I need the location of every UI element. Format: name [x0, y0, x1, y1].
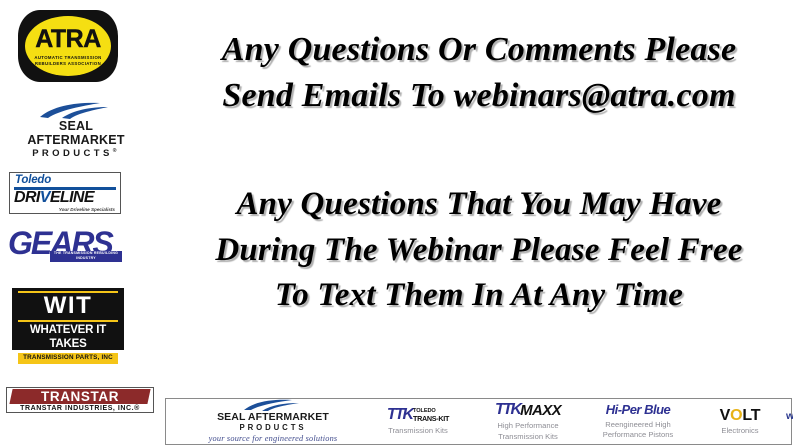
footer-ttk-right: TOLEDO TRANS-KIT	[413, 408, 449, 422]
headline-1-line-2: Send Emails To webinars@atra.com	[165, 73, 793, 119]
footer-volt-word: VOLT	[694, 407, 786, 425]
footer-swoosh-icon	[184, 399, 362, 411]
footer-maxx-caption-1: High Performance	[474, 421, 582, 431]
wit-wordmark: WIT	[12, 294, 124, 319]
toledo-main-v: V	[40, 189, 50, 206]
footer-ttk-mark: TTK	[387, 406, 412, 424]
atra-wordmark: ATRA	[35, 27, 101, 52]
transtar-logo: TRANSTAR TRANSTAR INDUSTRIES, INC.®	[6, 387, 154, 413]
transtar-registered: ®	[134, 405, 140, 412]
headline-block-questions: Any Questions That You May Have During T…	[165, 182, 793, 319]
toledo-main-right: ELINE	[50, 189, 94, 206]
footer-ttk-lockup: TTK TOLEDO TRANS-KIT	[362, 406, 474, 424]
wit-bottom-rule	[18, 320, 118, 322]
footer-website-block: www.sealsap.com (800) 582-2760	[786, 409, 793, 434]
footer-ttk-caption: Transmission Kits	[362, 426, 474, 436]
footer-phone-number: (800) 582-2760	[786, 423, 793, 434]
atra-logo: ATRA AUTOMATIC TRANSMISSION REBUILDERS A…	[18, 10, 118, 82]
wit-phrase: WHATEVER IT TAKES	[12, 323, 124, 352]
gears-logo: GEARS THE TRANSMISSION REBUILDING INDUST…	[8, 228, 128, 266]
footer-website-url[interactable]: www.sealsap.com	[786, 409, 793, 423]
footer-sap-line-2: PRODUCTS	[184, 423, 362, 433]
headline-1-line-1: Any Questions Or Comments Please	[165, 27, 793, 73]
sap-line-1: SEAL AFTERMARKET	[12, 119, 140, 148]
headline-2-line-2: During The Webinar Please Feel Free	[165, 228, 793, 274]
footer-volt-left: V	[720, 407, 730, 424]
headline-block-contact: Any Questions Or Comments Please Send Em…	[165, 27, 793, 119]
sap-line-2-text: PRODUCTS	[32, 148, 113, 159]
sponsor-logo-column: ATRA AUTOMATIC TRANSMISSION REBUILDERS A…	[0, 0, 165, 446]
footer-maxx-caption-2: Transmission Kits	[474, 432, 582, 442]
footer-hiper-word: Hi-Per Blue	[582, 402, 694, 418]
lightning-bolt-icon: O	[730, 407, 742, 424]
footer-hiper-caption-2: Performance Pistons	[582, 430, 694, 440]
footer-logo-ttk-maxx: TTKMAXX High Performance Transmission Ki…	[474, 401, 582, 442]
sap-line-2: PRODUCTS®	[12, 148, 140, 160]
footer-hiper-caption-1: Reengineered High	[582, 420, 694, 430]
footer-sap-tagline: your source for engineered solutions	[184, 433, 362, 445]
toledo-main-word: DRIVELINE	[10, 190, 120, 207]
atra-oval: ATRA AUTOMATIC TRANSMISSION REBUILDERS A…	[25, 16, 111, 76]
footer-maxx-mark: TTK	[495, 401, 520, 419]
atra-subtitle-line-2: REBUILDERS ASSOCIATION	[35, 61, 101, 67]
footer-sponsor-bar: SEAL AFTERMARKET PRODUCTS your source fo…	[165, 398, 792, 445]
wit-logo: WIT WHATEVER IT TAKES TRANSMISSION PARTS…	[12, 288, 124, 350]
swoosh-icon	[12, 102, 140, 119]
transtar-wordmark: TRANSTAR	[41, 389, 119, 404]
footer-volt-right: LT	[742, 407, 760, 424]
gears-tagline: THE TRANSMISSION REBUILDING INDUSTRY	[50, 251, 122, 262]
headline-2-line-1: Any Questions That You May Have	[165, 182, 793, 228]
footer-logo-seal-aftermarket: SEAL AFTERMARKET PRODUCTS your source fo…	[166, 399, 362, 445]
footer-logo-hi-per-blue: Hi-Per Blue Reengineered High Performanc…	[582, 402, 694, 440]
footer-maxx-lockup: TTKMAXX	[474, 401, 582, 419]
transtar-subtitle-text: TRANSTAR INDUSTRIES, INC.	[20, 405, 134, 412]
footer-logo-volt-electronics: VOLT Electronics	[694, 407, 786, 437]
slide-canvas: ATRA AUTOMATIC TRANSMISSION REBUILDERS A…	[0, 0, 793, 446]
footer-volt-caption: Electronics	[694, 426, 786, 436]
footer-maxx-word: MAXX	[520, 402, 561, 419]
footer-logo-toledo-trans-kit: TTK TOLEDO TRANS-KIT Transmission Kits	[362, 406, 474, 436]
sap-trademark: ®	[113, 148, 120, 154]
slide-content-area: Any Questions Or Comments Please Send Em…	[165, 0, 793, 392]
wit-subtitle-bar: TRANSMISSION PARTS, INC	[18, 353, 118, 363]
transtar-band: TRANSTAR	[9, 389, 150, 404]
footer-sap-line-1: SEAL AFTERMARKET	[184, 411, 362, 424]
transtar-subtitle: TRANSTAR INDUSTRIES, INC.®	[8, 404, 152, 414]
toledo-driveline-logo: Toledo DRIVELINE Your Driveline Speciali…	[9, 172, 121, 214]
headline-2-line-3: To Text Them In At Any Time	[165, 273, 793, 319]
toledo-tagline: Your Driveline Specialists	[10, 207, 120, 213]
toledo-top-word: Toledo	[10, 173, 120, 187]
toledo-main-left: DRI	[14, 189, 40, 206]
footer-ttk-transkit: TRANS-KIT	[413, 415, 449, 423]
seal-aftermarket-products-logo: SEAL AFTERMARKET PRODUCTS®	[12, 102, 140, 150]
